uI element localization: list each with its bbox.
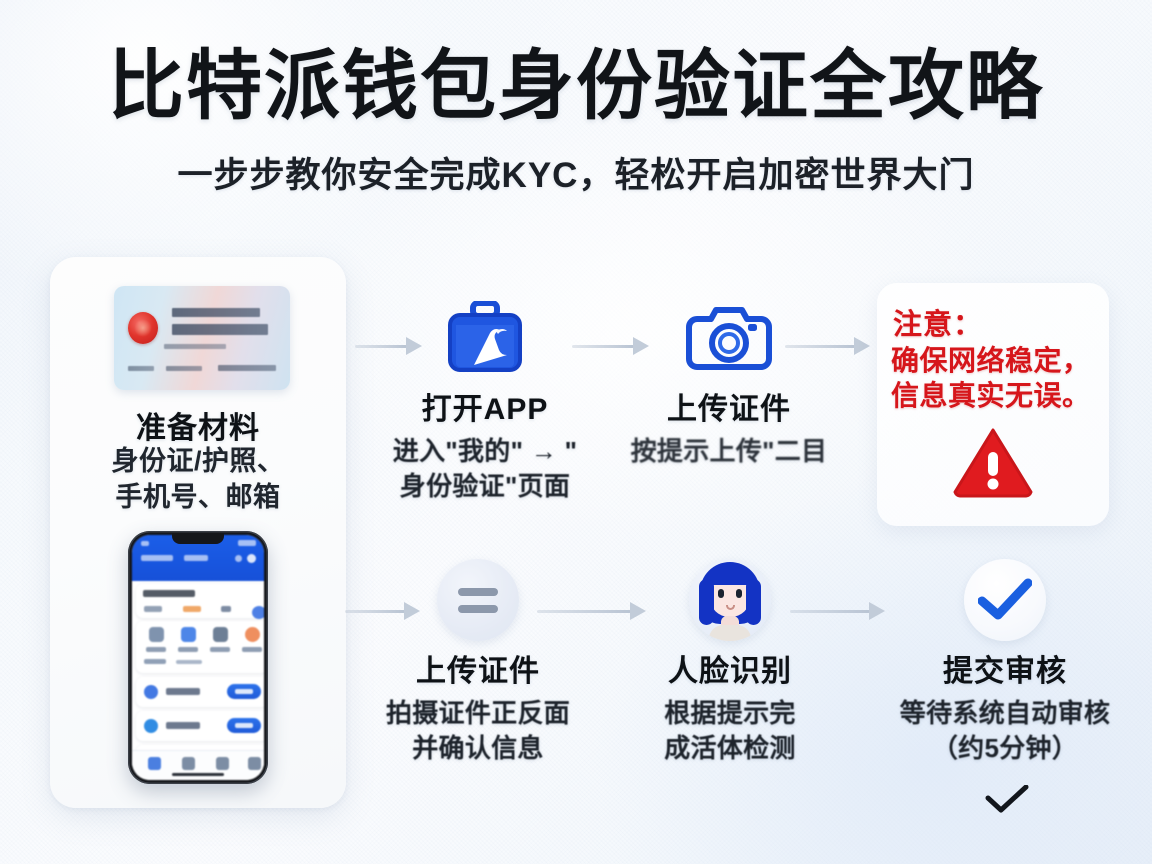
app-grid-item xyxy=(208,627,232,652)
step-subtitle-line-1: 按提示上传"二目 xyxy=(600,434,858,469)
briefcase-wallet-icon xyxy=(350,296,620,380)
step-title: 提交审核 xyxy=(876,646,1134,690)
phone-notch xyxy=(172,533,224,544)
app-header-title xyxy=(141,555,173,561)
app-tab-item xyxy=(183,606,201,612)
page-title: 比特派钱包身份验证全攻略 xyxy=(0,44,1152,129)
avatar-eye xyxy=(718,589,724,598)
home-indicator xyxy=(172,773,224,776)
phone-screen xyxy=(132,535,264,780)
step-title: 上传证件 xyxy=(600,384,858,428)
app-tab-item xyxy=(252,606,264,619)
step-subtitle: 按提示上传"二目 xyxy=(600,434,858,469)
app-balance-card xyxy=(136,584,264,618)
step-title: 打开APP xyxy=(350,384,620,428)
app-grid-item xyxy=(176,627,200,652)
app-header-icon xyxy=(235,555,242,562)
smartphone-mockup xyxy=(128,531,268,784)
app-grid-label xyxy=(176,660,202,664)
warning-line-1: 确保网络稳定， xyxy=(877,343,1109,378)
step-upload-documents-camera: 上传证件 按提示上传"二目 xyxy=(600,296,858,469)
header: 比特派钱包身份验证全攻略 一步步教你安全完成KYC，轻松开启加密世界大门 xyxy=(0,44,1152,198)
list-item-label xyxy=(166,722,200,729)
id-card-text-line xyxy=(172,324,268,335)
step-subtitle-line-2: 身份验证"页面 xyxy=(350,469,620,504)
page-subtitle: 一步步教你安全完成KYC，轻松开启加密世界大门 xyxy=(0,147,1152,198)
step-subtitle-line-1: 等待系统自动审核 xyxy=(876,696,1134,731)
avatar-hair-side xyxy=(699,579,714,625)
face-avatar-icon xyxy=(605,558,855,642)
app-bottom-tabbar xyxy=(132,750,264,780)
hero-subtitle-line-1: 身份证/护照、 xyxy=(50,443,346,479)
id-card-text-line xyxy=(166,366,202,371)
tabbar-item xyxy=(248,757,261,770)
app-icon-grid xyxy=(136,621,264,673)
equals-circle-icon xyxy=(350,558,606,642)
step-title: 人脸识别 xyxy=(605,646,855,690)
id-card-text-line xyxy=(172,308,260,317)
step-open-app: 打开APP 进入"我的" → " 身份验证"页面 xyxy=(350,296,620,504)
step-subtitle-line-1: 进入"我的" → " xyxy=(350,434,620,469)
avatar-hair-side xyxy=(746,579,761,625)
warning-card: 注意： 确保网络稳定， 信息真实无误。 xyxy=(877,283,1109,526)
warning-label: 注意： xyxy=(877,301,1109,343)
step-face-recognition: 人脸识别 根据提示完 成活体检测 xyxy=(605,558,855,766)
tabbar-item xyxy=(148,757,161,770)
hero-step-title: 准备材料 xyxy=(50,403,346,447)
list-item-icon xyxy=(144,685,158,699)
step-subtitle-line-1: 根据提示完 xyxy=(605,696,855,731)
app-header-subtitle xyxy=(184,555,208,561)
app-grid-item xyxy=(144,627,168,652)
avatar-body xyxy=(709,625,751,641)
step-subtitle-line-2: 成活体检测 xyxy=(605,731,855,766)
step-subtitle: 根据提示完 成活体检测 xyxy=(605,696,855,766)
prepare-materials-card: 准备材料 身份证/护照、 手机号、邮箱 xyxy=(50,257,346,808)
list-item-button xyxy=(227,718,261,733)
app-tab-item xyxy=(144,606,162,612)
step-subtitle: 进入"我的" → " 身份验证"页面 xyxy=(350,434,620,504)
national-emblem-icon xyxy=(128,312,158,344)
step-title: 上传证件 xyxy=(350,646,606,690)
check-circle-icon xyxy=(876,558,1134,642)
app-grid-label xyxy=(144,659,166,664)
equals-bar xyxy=(458,588,498,596)
app-balance-text xyxy=(143,590,195,597)
checkmark-icon xyxy=(985,785,1029,820)
id-card-text-line xyxy=(128,366,154,371)
app-header-avatar xyxy=(247,554,256,563)
status-bar-left xyxy=(141,541,149,546)
list-item-button xyxy=(227,684,261,699)
step-subtitle-line-1: 拍摄证件正反面 xyxy=(350,696,606,731)
id-card-icon xyxy=(114,286,290,390)
app-list-item xyxy=(136,677,264,707)
camera-icon xyxy=(600,296,858,380)
step-subtitle: 拍摄证件正反面 并确认信息 xyxy=(350,696,606,766)
step-upload-documents: 上传证件 拍摄证件正反面 并确认信息 xyxy=(350,558,606,766)
equals-bar xyxy=(458,605,498,613)
list-item-label xyxy=(166,688,200,695)
status-bar-right xyxy=(238,540,256,546)
id-card-text-line xyxy=(164,344,226,349)
list-item-icon xyxy=(144,719,158,733)
step-submit-review: 提交审核 等待系统自动审核 （约5分钟） xyxy=(876,558,1134,766)
step-subtitle: 等待系统自动审核 （约5分钟） xyxy=(876,696,1134,766)
id-card-text-line xyxy=(218,365,276,371)
tabbar-item xyxy=(216,757,229,770)
tabbar-item xyxy=(182,757,195,770)
app-body xyxy=(132,581,264,780)
step-subtitle-line-2: （约5分钟） xyxy=(876,731,1134,766)
app-tab-item xyxy=(221,606,231,612)
app-grid-item xyxy=(240,627,264,652)
app-list-item xyxy=(136,711,264,741)
warning-line-2: 信息真实无误。 xyxy=(877,378,1109,413)
app-tab-row xyxy=(144,606,264,619)
step-subtitle-line-2: 并确认信息 xyxy=(350,731,606,766)
hero-subtitle-line-2: 手机号、邮箱 xyxy=(50,479,346,515)
hero-step-subtitle: 身份证/护照、 手机号、邮箱 xyxy=(50,443,346,515)
avatar-eye xyxy=(736,589,742,598)
warning-triangle-icon xyxy=(877,426,1109,498)
